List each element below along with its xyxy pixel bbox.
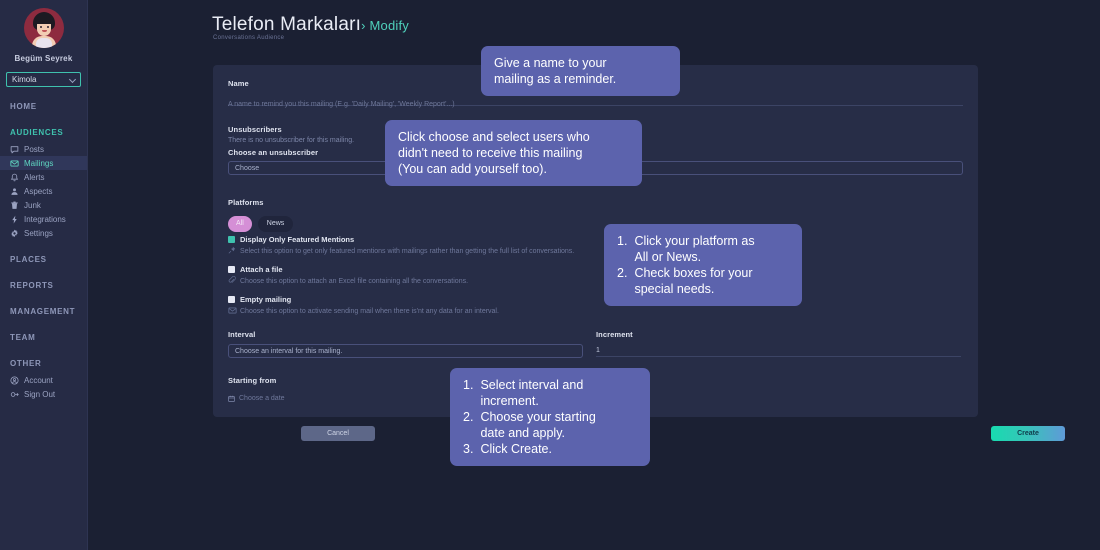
platform-chip-group: AllNews [228,212,299,232]
app-root: Begüm Seyrek Kimola HOMEAUDIENCESPostsMa… [0,0,1100,550]
sign-out-icon [10,390,19,399]
callout-list-text: Click Create. [480,441,595,457]
checkbox-icon[interactable] [228,266,235,273]
sidebar-section-reports[interactable]: REPORTS [0,280,87,292]
unsubscriber-select-value: Choose [235,165,259,172]
callout-list-item: 1.Select interval andincrement. [463,377,596,409]
sidebar: Begüm Seyrek Kimola HOMEAUDIENCESPostsMa… [0,0,88,550]
sidebar-item-alerts[interactable]: Alerts [0,170,87,184]
callout-name-hint: Give a name to yourmailing as a reminder… [481,46,680,96]
option-description: Choose this option to attach an Excel fi… [240,278,468,285]
sidebar-item-settings[interactable]: Settings [0,226,87,240]
name-placeholder: A name to remind you this mailing (E.g. … [228,101,455,108]
callout-list-number: 1. [617,233,634,265]
sidebar-item-junk[interactable]: Junk [0,198,87,212]
increment-value: 1 [596,347,600,354]
calendar-icon [228,389,235,407]
gear-icon [10,229,19,238]
sidebar-section-other[interactable]: OTHER [0,358,87,370]
callout-line: (You can add yourself too). [398,161,629,177]
page-title: Telefon Markaları› Modify [212,14,409,36]
sidebar-item-label: Mailings [24,159,53,168]
option-row: Empty mailingChoose this option to activ… [228,295,963,317]
chevron-down-icon [69,76,76,83]
page-subtitle: Conversations Audience [213,35,284,41]
trash-icon [10,201,19,210]
callout-list-item: 2.Choose your startingdate and apply. [463,409,596,441]
option-row: Attach a fileChoose this option to attac… [228,265,963,286]
interval-label: Interval [228,330,583,339]
sidebar-item-label: Sign Out [24,390,55,399]
option-checkbox-group: Display Only Featured MentionsSelect thi… [228,235,963,326]
callout-list-item: 1.Click your platform asAll or News. [617,233,755,265]
callout-list: 1.Select interval andincrement.2.Choose … [463,377,596,457]
sidebar-item-integrations[interactable]: Integrations [0,212,87,226]
option-toggle-attach-a-file[interactable]: Attach a file [228,265,963,274]
increment-label: Increment [596,330,961,339]
sidebar-item-posts[interactable]: Posts [0,142,87,156]
sidebar-item-label: Aspects [24,187,52,196]
sidebar-section-audiences[interactable]: AUDIENCES [0,127,87,139]
sidebar-item-label: Account [24,376,53,385]
callout-line: Give a name to your [494,55,667,71]
checkbox-icon[interactable] [228,296,235,303]
option-label: Attach a file [240,265,283,274]
callout-list-number: 2. [617,265,634,297]
profile-name: Begüm Seyrek [0,54,87,63]
envelope-icon [10,159,19,168]
breadcrumb[interactable]: › Modify [361,18,409,33]
callout-line: didn't need to receive this mailing [398,145,629,161]
sidebar-item-label: Alerts [24,173,44,182]
interval-select[interactable]: Choose an interval for this mailing. [228,344,583,358]
starting-from-label: Starting from [228,376,285,385]
mailing-form-card: Name A name to remind you this mailing (… [213,65,978,417]
sidebar-item-account[interactable]: Account [0,373,87,387]
sidebar-profile: Begüm Seyrek [0,0,87,63]
option-description-row: Choose this option to activate sending m… [228,306,963,317]
callout-list: 1.Click your platform asAll or News.2.Ch… [617,233,755,297]
callout-list-item: 2.Check boxes for yourspecial needs. [617,265,755,297]
callout-platforms-hint: 1.Click your platform asAll or News.2.Ch… [604,224,802,306]
option-toggle-empty-mailing[interactable]: Empty mailing [228,295,963,304]
option-description: Select this option to get only featured … [240,248,574,255]
platform-chip-news[interactable]: News [258,216,294,232]
avatar [24,8,64,48]
sidebar-item-sign-out[interactable]: Sign Out [0,387,87,401]
callout-list-text: Check boxes for yourspecial needs. [634,265,754,297]
sidebar-nav: HOMEAUDIENCESPostsMailingsAlertsAspectsJ… [0,101,87,401]
option-description-row: Select this option to get only featured … [228,246,963,256]
callout-unsubscribers-hint: Click choose and select users whodidn't … [385,120,642,186]
interval-placeholder: Choose an interval for this mailing. [235,348,342,355]
sidebar-item-label: Settings [24,229,53,238]
callout-list-text: Click your platform asAll or News. [634,233,754,265]
platforms-label: Platforms [228,198,299,207]
account-circle-icon [10,376,19,385]
callout-line: mailing as a reminder. [494,71,667,87]
callout-list-text: Choose your startingdate and apply. [480,409,595,441]
envelope-icon [228,306,235,317]
callout-list-number: 1. [463,377,480,409]
date-picker[interactable]: Choose a date [228,389,285,407]
pin-icon [228,246,235,256]
option-row: Display Only Featured MentionsSelect thi… [228,235,963,256]
date-placeholder: Choose a date [239,395,285,402]
platform-chip-all[interactable]: All [228,216,252,232]
callout-list-number: 2. [463,409,480,441]
sidebar-item-mailings[interactable]: Mailings [0,156,87,170]
lightning-icon [10,215,19,224]
speech-bubble-icon [10,145,19,154]
sidebar-section-places[interactable]: PLACES [0,254,87,266]
checkbox-icon[interactable] [228,236,235,243]
option-description-row: Choose this option to attach an Excel fi… [228,276,963,286]
sidebar-item-label: Junk [24,201,41,210]
callout-line: Click choose and select users who [398,129,629,145]
page-title-text: Telefon Markaları [212,14,361,35]
paperclip-icon [228,276,235,286]
option-label: Display Only Featured Mentions [240,235,354,244]
field-platforms: Platforms AllNews [228,198,299,232]
callout-list-number: 3. [463,441,480,457]
option-description: Choose this option to activate sending m… [240,308,499,315]
option-label: Empty mailing [240,295,291,304]
callout-list-item: 3.Click Create. [463,441,596,457]
sidebar-item-label: Posts [24,145,44,154]
callout-interval-hint: 1.Select interval andincrement.2.Choose … [450,368,650,466]
sidebar-section-team[interactable]: TEAM [0,332,87,344]
increment-input[interactable]: 1 [596,344,961,357]
callout-list-text: Select interval andincrement. [480,377,595,409]
person-icon [10,187,19,196]
sidebar-section-home[interactable]: HOME [0,101,87,113]
field-increment: Increment 1 [596,330,961,357]
option-toggle-display-only-featured-mentions[interactable]: Display Only Featured Mentions [228,235,963,244]
org-select[interactable]: Kimola [6,72,81,87]
field-interval: Interval Choose an interval for this mai… [228,330,583,358]
sidebar-section-management[interactable]: MANAGEMENT [0,306,87,318]
create-button[interactable]: Create [991,426,1065,441]
sidebar-item-label: Integrations [24,215,66,224]
bell-icon [10,173,19,182]
sidebar-item-aspects[interactable]: Aspects [0,184,87,198]
cancel-button[interactable]: Cancel [301,426,375,441]
org-select-value: Kimola [12,75,36,84]
field-starting-from: Starting from Choose a date [228,376,285,407]
